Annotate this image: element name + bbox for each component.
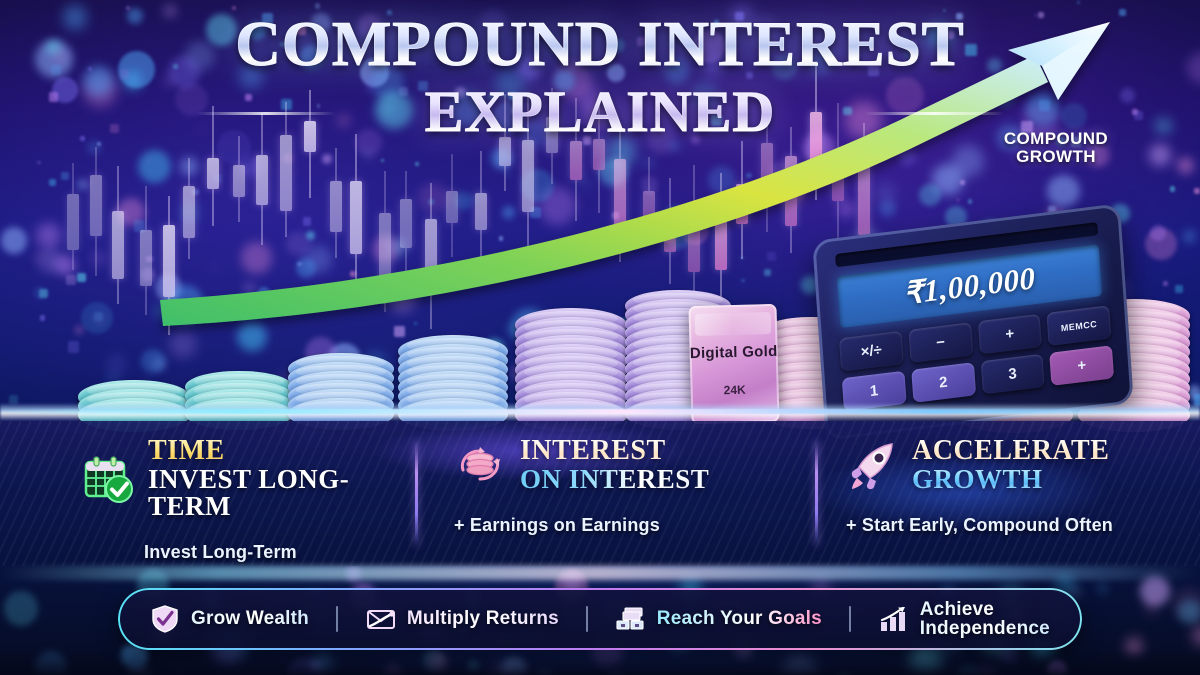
pill-item-reach-goals[interactable]: Reach Your Goals	[616, 605, 822, 633]
envelope-chart-icon	[366, 605, 396, 633]
pill-item-label: Multiply Returns	[407, 609, 559, 628]
pill-item-label: AchieveIndependence	[920, 600, 1050, 639]
compound-growth-label: Compound Growth	[966, 130, 1146, 167]
pill-item-label: Reach Your Goals	[657, 609, 822, 628]
pill-separator	[849, 606, 851, 632]
calculator-key[interactable]: −	[908, 322, 973, 363]
feature-subhead: On Interest	[520, 466, 709, 493]
feature-headings: Accelerate Growth	[912, 437, 1109, 493]
surface-glow-line	[0, 409, 1200, 414]
stacked-cash-icon	[616, 605, 646, 633]
feature-heading-row: Interest On Interest	[454, 437, 818, 493]
pill-item-grow-wealth[interactable]: Grow Wealth	[150, 605, 309, 633]
feature-heading-row: Time Invest Long-Term	[82, 437, 418, 520]
gold-bar-label: Digital Gold	[690, 344, 778, 362]
gold-bar-karat: 24K	[691, 381, 779, 397]
pill-separator	[586, 606, 588, 632]
feature-item-time[interactable]: Time Invest Long-Term Invest Long-Term	[0, 421, 418, 566]
feature-item-accelerate[interactable]: Accelerate Growth + Start Early, Compoun…	[818, 421, 1200, 566]
infographic-poster: Compound Interest Explained Compound Gro…	[0, 0, 1200, 675]
feature-subhead: Invest Long-Term	[148, 466, 418, 520]
calculator-key[interactable]: 3	[980, 354, 1045, 395]
gold-bar-shine	[695, 312, 772, 336]
feature-headings: Time Invest Long-Term	[148, 437, 418, 520]
pill-item-multiply-returns[interactable]: Multiply Returns	[366, 605, 559, 633]
feature-item-interest[interactable]: Interest On Interest + Earnings on Earni…	[418, 421, 818, 566]
benefits-pill-bar: Grow Wealth Multiply Returns	[118, 588, 1082, 650]
calculator-key[interactable]: +	[977, 314, 1042, 355]
coin-stack	[515, 299, 627, 412]
calculator-key[interactable]: +	[1049, 345, 1114, 386]
calculator-key[interactable]: MEMCC	[1047, 305, 1112, 346]
feature-headline: Interest	[520, 437, 709, 465]
light-streak	[0, 566, 1200, 580]
feature-subhead: Growth	[912, 466, 1109, 493]
feature-headline: Time	[148, 437, 418, 465]
coins-refresh-icon	[454, 439, 506, 491]
shield-check-icon	[150, 605, 180, 633]
feature-headings: Interest On Interest	[520, 437, 709, 493]
pill-separator	[336, 606, 338, 632]
feature-heading-row: Accelerate Growth	[846, 437, 1200, 493]
feature-caption: + Earnings on Earnings	[454, 515, 818, 536]
calculator-display-value: ₹1,00,000	[902, 260, 1036, 312]
coin-stack	[398, 326, 508, 412]
title-line-1: Compound Interest	[0, 14, 1200, 76]
pill-item-label: Grow Wealth	[191, 609, 309, 628]
feature-caption: + Start Early, Compound Often	[846, 515, 1200, 536]
coin-stack	[288, 344, 394, 412]
calculator-key[interactable]: ×/÷	[839, 331, 904, 372]
feature-caption: Invest Long-Term	[82, 542, 418, 563]
feature-headline: Accelerate	[912, 437, 1109, 465]
page-title: Compound Interest Explained	[0, 14, 1200, 145]
rocket-icon	[846, 439, 898, 491]
calculator-key[interactable]: 2	[911, 362, 976, 403]
bar-chart-up-icon	[879, 605, 909, 633]
bottom-vignette	[0, 650, 1200, 675]
pill-item-achieve-independence[interactable]: AchieveIndependence	[879, 600, 1050, 639]
calendar-check-icon	[82, 453, 134, 505]
feature-band: Time Invest Long-Term Invest Long-Term	[0, 421, 1200, 566]
feature-list: Time Invest Long-Term Invest Long-Term	[0, 421, 1200, 566]
